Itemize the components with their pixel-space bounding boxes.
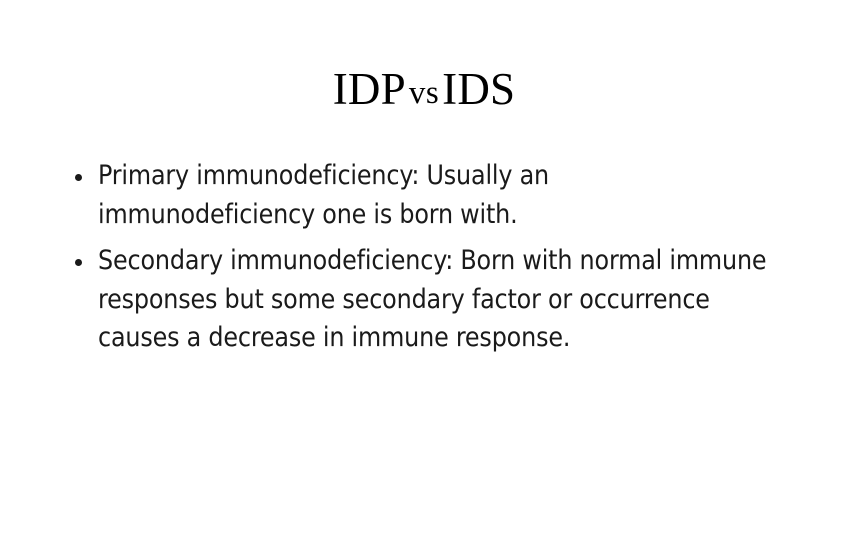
bullet-list: Primary immunodeficiency: Usually an imm…: [68, 157, 788, 358]
bullet-item-text: Primary immunodeficiency: Usually an imm…: [98, 157, 628, 234]
bullet-dot-icon: [75, 174, 82, 181]
bullet-dot-icon: [75, 259, 82, 266]
slide-body: Primary immunodeficiency: Usually an imm…: [68, 157, 788, 358]
title-part-ids: IDS: [442, 64, 515, 114]
bullet-item-primary-immunodeficiency: Primary immunodeficiency: Usually an imm…: [68, 157, 788, 234]
title-part-idp: IDP: [333, 64, 406, 114]
bullet-item-text: Secondary immunodeficiency: Born with no…: [98, 242, 788, 358]
slide-title: IDPvsIDS: [0, 63, 848, 120]
bullet-item-secondary-immunodeficiency: Secondary immunodeficiency: Born with no…: [68, 242, 788, 358]
title-part-vs: vs: [406, 75, 442, 111]
presentation-slide: IDPvsIDS Primary immunodeficiency: Usual…: [0, 0, 848, 538]
